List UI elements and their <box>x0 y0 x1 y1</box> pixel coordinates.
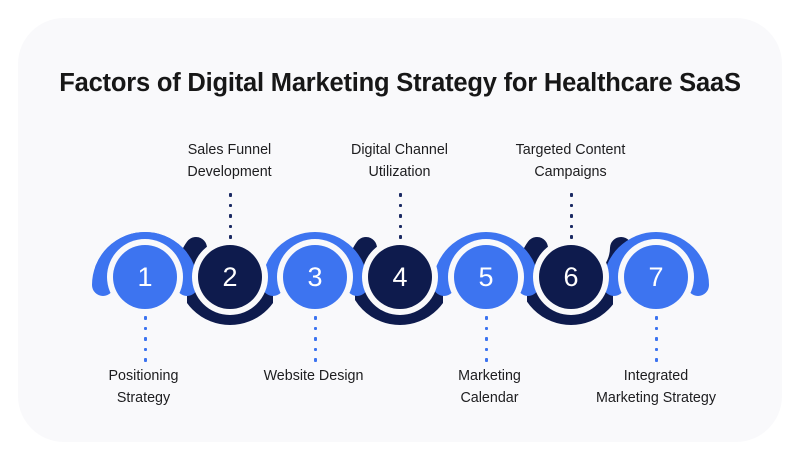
step-label-2-line1: Sales Funnel <box>152 139 307 161</box>
connector-dots-5 <box>484 316 489 362</box>
step-node-6[interactable]: 6 <box>539 245 603 309</box>
step-label-2-line2: Development <box>152 161 307 183</box>
step-label-1-line1: Positioning <box>66 365 221 387</box>
connector-dots-2 <box>228 193 233 239</box>
step-label-6: Targeted Content Campaigns <box>488 139 653 183</box>
step-node-4[interactable]: 4 <box>368 245 432 309</box>
step-label-5: Marketing Calendar <box>412 365 567 409</box>
infographic-canvas: Factors of Digital Marketing Strategy fo… <box>0 0 800 460</box>
step-label-4: Digital Channel Utilization <box>322 139 477 183</box>
step-label-4-line1: Digital Channel <box>322 139 477 161</box>
connector-dots-6 <box>569 193 574 239</box>
step-node-7[interactable]: 7 <box>624 245 688 309</box>
step-label-7-line1: Integrated <box>567 365 745 387</box>
connector-dots-4 <box>398 193 403 239</box>
step-label-7-line2: Marketing Strategy <box>567 387 745 409</box>
step-label-5-line2: Calendar <box>412 387 567 409</box>
step-label-7: Integrated Marketing Strategy <box>567 365 745 409</box>
step-label-2: Sales Funnel Development <box>152 139 307 183</box>
connector-dots-7 <box>654 316 659 362</box>
step-label-6-line1: Targeted Content <box>488 139 653 161</box>
step-label-3: Website Design <box>236 365 391 387</box>
step-node-3[interactable]: 3 <box>283 245 347 309</box>
step-node-2[interactable]: 2 <box>198 245 262 309</box>
connector-dots-3 <box>313 316 318 362</box>
page-title: Factors of Digital Marketing Strategy fo… <box>0 68 800 98</box>
connector-dots-1 <box>143 316 148 362</box>
step-label-1: Positioning Strategy <box>66 365 221 409</box>
step-label-4-line2: Utilization <box>322 161 477 183</box>
step-node-5[interactable]: 5 <box>454 245 518 309</box>
step-label-3-line1: Website Design <box>236 365 391 387</box>
step-label-1-line2: Strategy <box>66 387 221 409</box>
step-label-6-line2: Campaigns <box>488 161 653 183</box>
step-label-5-line1: Marketing <box>412 365 567 387</box>
step-node-1[interactable]: 1 <box>113 245 177 309</box>
